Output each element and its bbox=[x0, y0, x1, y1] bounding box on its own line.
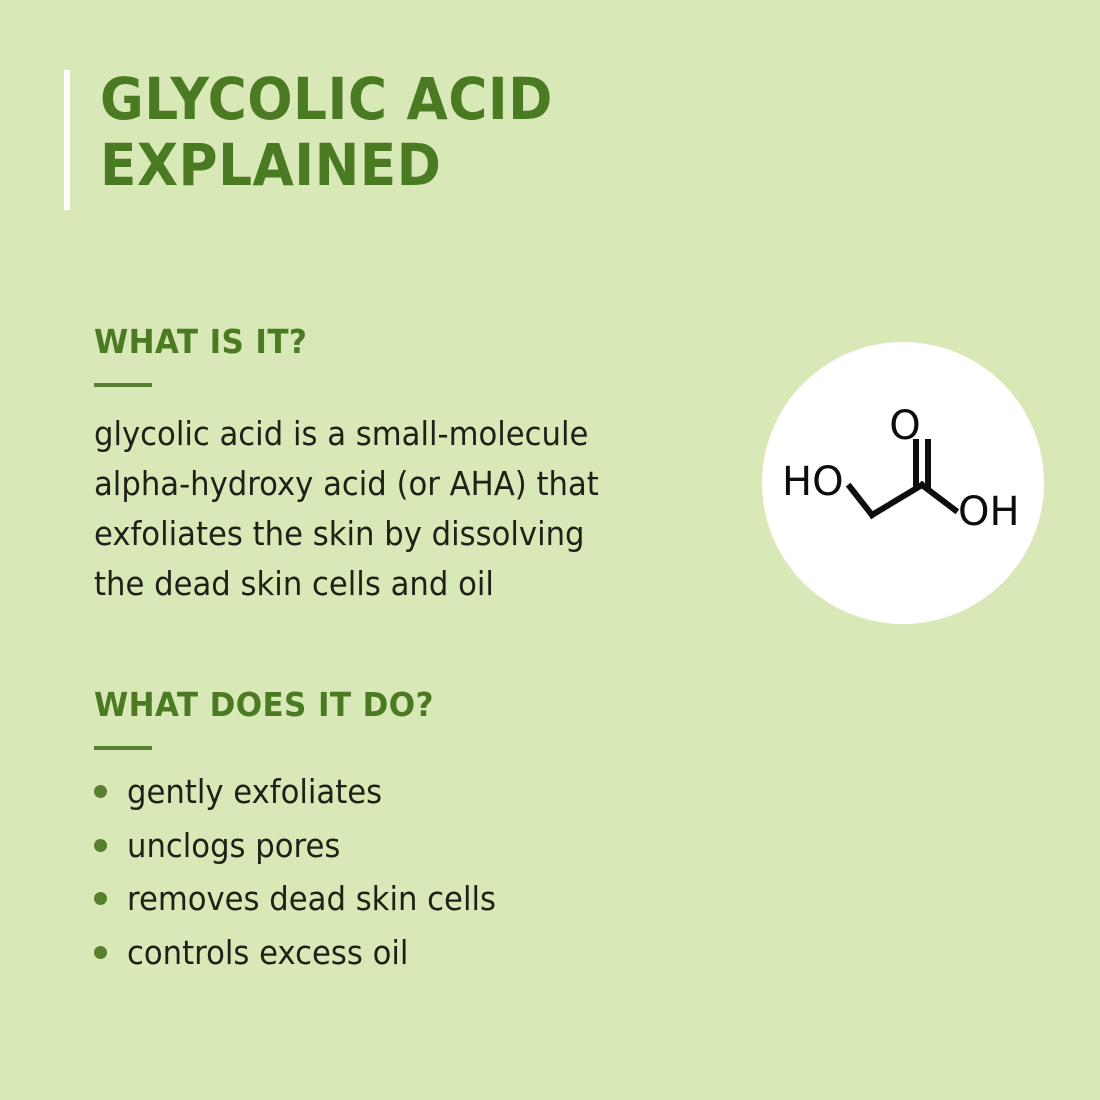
bullet-dot-icon bbox=[94, 892, 107, 905]
bullet-dot-icon bbox=[94, 946, 107, 959]
list-item-label: removes dead skin cells bbox=[127, 879, 496, 919]
list-item: controls excess oil bbox=[94, 933, 714, 973]
list-item-label: gently exfoliates bbox=[127, 772, 382, 812]
bond-carbonyl-oh bbox=[922, 485, 955, 510]
bullet-dot-icon bbox=[94, 839, 107, 852]
section-what-does-it-do: WHAT DOES IT DO? gently exfoliates unclo… bbox=[94, 685, 714, 986]
molecule-badge: HO O OH bbox=[762, 342, 1044, 624]
benefits-list: gently exfoliates unclogs pores removes … bbox=[94, 772, 714, 972]
molecule-label-carboxyl-right: OH bbox=[958, 489, 1020, 535]
bullet-dot-icon bbox=[94, 785, 107, 798]
list-item-label: unclogs pores bbox=[127, 826, 340, 866]
list-item: gently exfoliates bbox=[94, 772, 714, 812]
section-divider bbox=[94, 383, 152, 387]
list-item-label: controls excess oil bbox=[127, 933, 408, 973]
list-item: removes dead skin cells bbox=[94, 879, 714, 919]
section-divider bbox=[94, 746, 152, 750]
list-item: unclogs pores bbox=[94, 826, 714, 866]
title-accent-bar bbox=[64, 70, 70, 210]
section-what-is-it: WHAT IS IT? glycolic acid is a small-mol… bbox=[94, 322, 714, 610]
molecule-label-hydroxyl-left: HO bbox=[782, 459, 844, 505]
infographic-canvas: GLYCOLIC ACID EXPLAINED WHAT IS IT? glyc… bbox=[0, 0, 1100, 1100]
page-title: GLYCOLIC ACID EXPLAINED bbox=[100, 66, 553, 198]
title-block: GLYCOLIC ACID EXPLAINED bbox=[64, 66, 704, 210]
section-heading: WHAT IS IT? bbox=[94, 322, 677, 361]
bond-ho-ch2 bbox=[850, 487, 872, 515]
glycolic-acid-molecule-icon: HO O OH bbox=[762, 342, 1044, 624]
bond-ch2-carbonyl bbox=[872, 485, 922, 515]
molecule-label-carbonyl-oxygen: O bbox=[889, 403, 920, 449]
section-heading: WHAT DOES IT DO? bbox=[94, 685, 677, 724]
section-paragraph: glycolic acid is a small-molecule alpha-… bbox=[94, 409, 671, 610]
